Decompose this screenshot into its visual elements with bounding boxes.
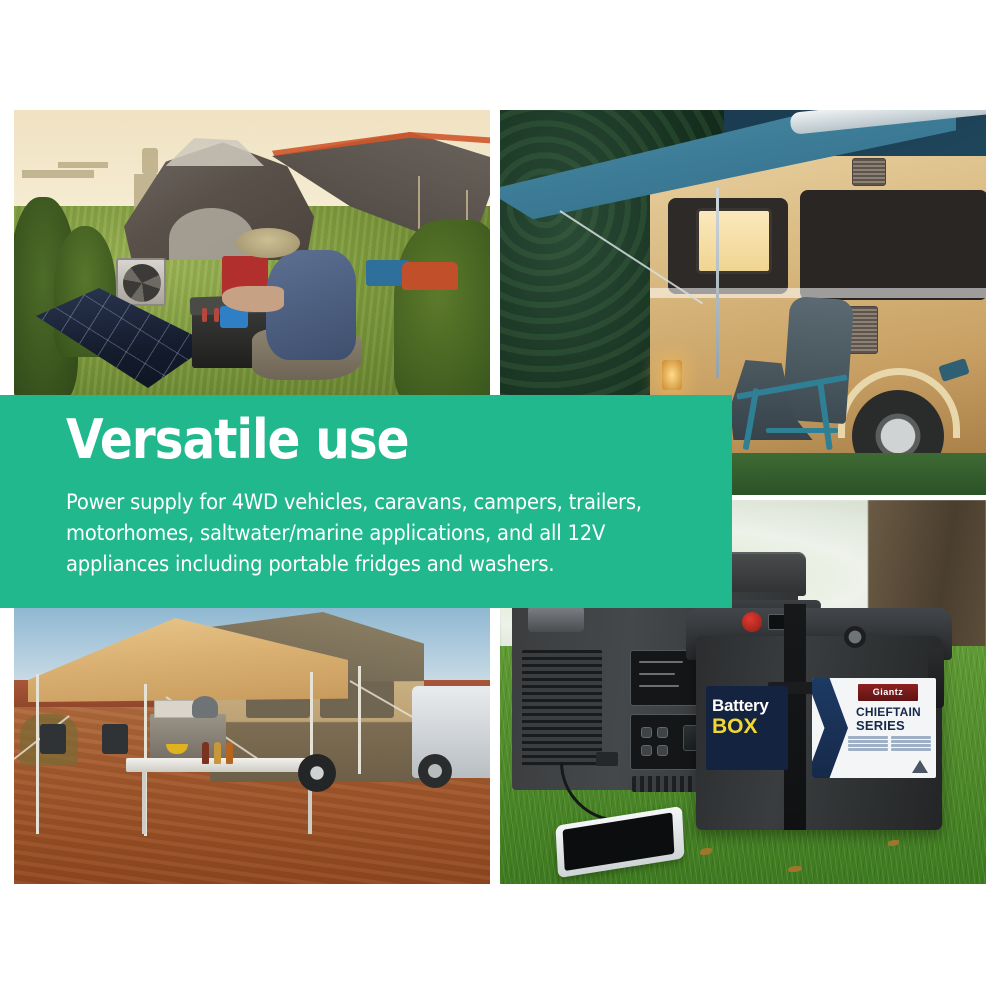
series-line2: SERIES <box>856 718 905 733</box>
ute-wheel <box>418 754 452 788</box>
water-tower <box>142 148 158 174</box>
background-structure <box>22 170 94 178</box>
fridge-handle <box>528 606 584 632</box>
camping-bag <box>402 262 458 290</box>
battery-box-label: Battery BOX <box>706 686 788 770</box>
portable-fan <box>116 258 166 306</box>
photo-outback-camper <box>14 608 490 884</box>
shrub <box>394 220 490 400</box>
table-leg <box>142 772 146 834</box>
caravan-window <box>696 208 772 274</box>
bottle <box>226 742 233 764</box>
battery-label-line1: Battery <box>712 696 782 716</box>
bottle <box>214 742 221 764</box>
tool <box>202 308 207 322</box>
bottle <box>202 742 209 764</box>
battery-box-red-knob[interactable] <box>742 612 762 632</box>
marketing-image-canvas: GIANTZ <box>0 0 1000 1000</box>
photo-campsite-tent <box>14 110 490 400</box>
fridge-button[interactable] <box>657 727 668 738</box>
person-hat <box>236 228 300 258</box>
fridge-condenser-vents <box>522 650 602 766</box>
awning-pole <box>358 666 361 774</box>
chevron-graphic <box>812 678 848 778</box>
roof-vent <box>852 158 886 186</box>
person-arm <box>222 286 284 312</box>
cooking-pot <box>192 696 218 718</box>
chieftain-series-label: Giantz CHIEFTAIN SERIES <box>812 678 936 778</box>
caravan-panel <box>800 190 986 300</box>
fridge-button[interactable] <box>657 745 668 756</box>
camping-lantern <box>662 360 682 390</box>
battery-box-outlet[interactable] <box>844 626 866 648</box>
camp-chair <box>102 724 128 754</box>
chair-frame <box>736 336 856 454</box>
battery-label-line2: BOX <box>712 716 782 738</box>
background-structure <box>58 162 108 168</box>
caravan-trim-stripe <box>650 288 986 298</box>
power-socket <box>596 752 618 766</box>
feature-checklist <box>848 736 934 751</box>
series-line1: CHIEFTAIN <box>856 705 921 719</box>
fridge-button[interactable] <box>641 727 652 738</box>
banner-body-text: Power supply for 4WD vehicles, caravans,… <box>66 487 661 580</box>
awning-pole <box>36 674 39 834</box>
recycle-triangle-icon <box>912 760 928 773</box>
tool <box>214 308 219 322</box>
fridge-button[interactable] <box>641 745 652 756</box>
storage-box <box>154 700 194 718</box>
banner-headline: Versatile use <box>66 409 408 471</box>
trailer-wheel <box>298 754 336 792</box>
camp-chair <box>40 724 66 754</box>
giantz-brand-logo: Giantz <box>858 684 918 701</box>
awning-support-pole <box>716 188 719 378</box>
